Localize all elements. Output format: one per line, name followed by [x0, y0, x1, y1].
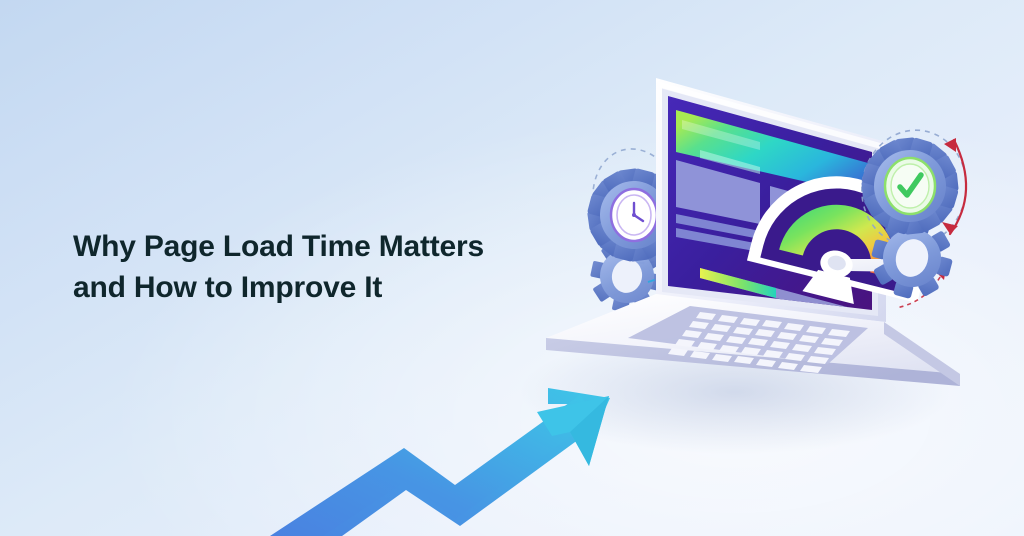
growth-arrow	[268, 388, 610, 536]
page-title: Why Page Load Time Matters and How to Im…	[73, 226, 543, 309]
headline-line-1: Why Page Load Time Matters	[73, 226, 543, 267]
headline-line-2: and How to Improve It	[73, 267, 543, 308]
check-icon	[885, 158, 935, 214]
illustration-banner: LOADING...	[0, 0, 1024, 536]
clock-icon	[611, 189, 657, 241]
